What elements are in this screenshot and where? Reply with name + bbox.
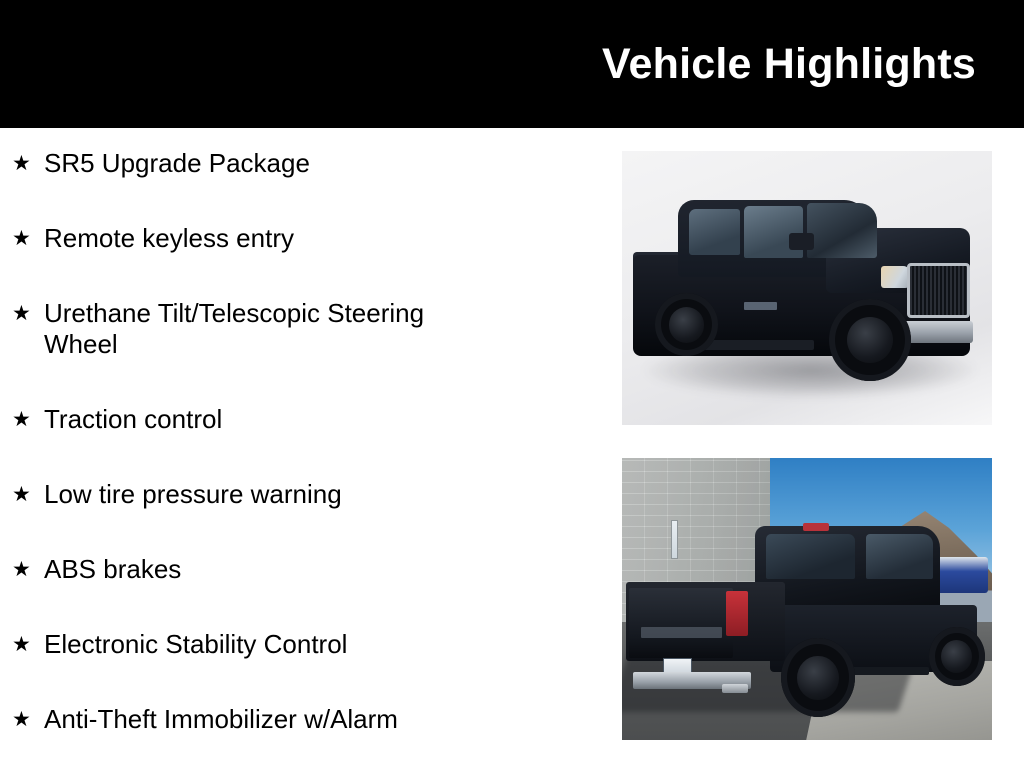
list-item: ★ Urethane Tilt/Telescopic Steering Whee… [0,298,560,360]
feature-label: Traction control [44,404,222,435]
list-item: ★ Low tire pressure warning [0,479,560,510]
star-icon: ★ [12,704,44,735]
list-item: ★ ABS brakes [0,554,560,585]
truck-cab-light [803,523,829,531]
truck-grille [907,263,970,318]
tailgate-lettering [641,627,722,638]
star-icon: ★ [12,148,44,179]
star-icon: ★ [12,223,44,254]
truck-front-wheel [829,299,910,381]
truck-front-wheel-rear-view [929,627,985,686]
list-item: ★ Remote keyless entry [0,223,560,254]
feature-label: Electronic Stability Control [44,629,347,660]
truck-tailgate [629,588,733,659]
vehicle-photo-front [622,151,992,425]
feature-label: Urethane Tilt/Telescopic Steering Wheel [44,298,499,360]
vehicle-highlights-slide: Vehicle Highlights ★ SR5 Upgrade Package… [0,0,1024,768]
building-door [671,520,678,559]
vehicle-highlights-list: ★ SR5 Upgrade Package ★ Remote keyless e… [0,148,560,735]
truck-taillight [726,591,748,636]
truck-side-glass [866,534,933,579]
feature-label: Anti-Theft Immobilizer w/Alarm [44,704,398,735]
page-title: Vehicle Highlights [602,43,1024,86]
star-icon: ★ [12,298,44,329]
truck-door-window [744,206,803,258]
truck-rear-glass [766,534,855,579]
feature-label: SR5 Upgrade Package [44,148,310,179]
truck-badge [744,302,777,310]
list-item: ★ SR5 Upgrade Package [0,148,560,179]
truck-side-mirror [789,233,815,249]
vehicle-photo-rear [622,458,992,740]
star-icon: ★ [12,404,44,435]
list-item: ★ Electronic Stability Control [0,629,560,660]
truck-rear-wheel-rear-view [781,638,855,717]
truck-rear-window [689,209,741,256]
feature-label: Remote keyless entry [44,223,294,254]
header-banner: Vehicle Highlights [0,0,1024,128]
truck-windshield [807,203,877,258]
feature-label: Low tire pressure warning [44,479,342,510]
star-icon: ★ [12,554,44,585]
list-item: ★ Anti-Theft Immobilizer w/Alarm [0,704,560,735]
list-item: ★ Traction control [0,404,560,435]
exhaust-tip [722,684,748,694]
feature-label: ABS brakes [44,554,181,585]
star-icon: ★ [12,629,44,660]
star-icon: ★ [12,479,44,510]
